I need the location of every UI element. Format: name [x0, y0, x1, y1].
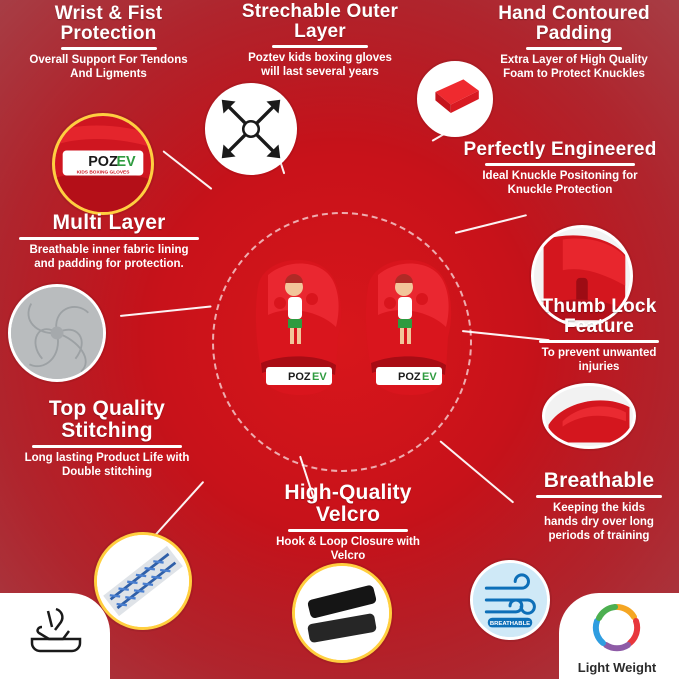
- svg-text:POZ: POZ: [288, 371, 311, 383]
- feature-title: Strechable Outer Layer: [216, 2, 424, 42]
- product-feature-poster: Wrist & Fist Protection Overall Support …: [0, 0, 679, 679]
- feature-multi-layer: Multi Layer Breathable inner fabric lini…: [4, 212, 214, 272]
- title-underline: [32, 445, 182, 448]
- colored-swirl-icon: [590, 603, 644, 653]
- feature-hand-contoured-padding: Hand Contoured Padding Extra Layer of Hi…: [470, 4, 678, 81]
- feature-title: Wrist & Fist Protection: [6, 4, 211, 44]
- feature-desc: Poztev kids boxing gloves will last seve…: [216, 52, 424, 80]
- svg-text:KIDS BOXING GLOVES: KIDS BOXING GLOVES: [384, 384, 434, 389]
- connector-line-1: [162, 150, 212, 190]
- title-underline: [539, 340, 659, 343]
- feature-title: High-Quality Velcro: [245, 482, 451, 526]
- double-stitching-closeup-icon: [97, 535, 189, 627]
- icon-red-foam-pad: [417, 61, 493, 137]
- corner-label: Hand Washable: [4, 660, 108, 675]
- icon-breathable-badge: BREATHABLE: [470, 560, 550, 640]
- icon-stretch-arrows: [205, 83, 297, 175]
- stretch-arrows-icon: [208, 86, 294, 172]
- title-underline: [485, 163, 635, 166]
- svg-text:KIDS BOXING GLOVES: KIDS BOXING GLOVES: [274, 384, 324, 389]
- feature-desc: Ideal Knuckle Positoning for Knuckle Pro…: [440, 170, 679, 198]
- pair-of-red-boxing-gloves: POZ EV KIDS BOXING GLOVES: [228, 245, 452, 425]
- connector-line-5: [120, 305, 212, 317]
- feature-title: Multi Layer: [4, 212, 214, 234]
- feature-title: Perfectly Engineered: [440, 140, 679, 160]
- corner-label: Light Weight: [559, 660, 675, 675]
- feature-title: Hand Contoured Padding: [470, 4, 678, 44]
- black-velcro-strips-icon: [295, 566, 389, 660]
- icon-glove-thumb-closeup: [542, 383, 636, 449]
- title-underline: [526, 47, 622, 50]
- feature-desc: Hook & Loop Closure with Velcro: [245, 536, 451, 564]
- corner-hand-washable: Hand Washable: [4, 605, 108, 675]
- red-glove-wrist-cuff-icon: POZ EV KIDS BOXING GLOVES: [55, 116, 151, 212]
- glove-thumb-closeup-icon: [545, 386, 633, 446]
- feature-breathable: Breathable Keeping the kids hands dry ov…: [520, 470, 678, 543]
- icon-black-velcro: [292, 563, 392, 663]
- feature-desc: To prevent unwanted injuries: [520, 347, 678, 375]
- feature-title: Thumb Lock Feature: [520, 297, 678, 337]
- feature-title: Breathable: [520, 470, 678, 492]
- feature-desc: Extra Layer of High Quality Foam to Prot…: [470, 54, 678, 82]
- feature-top-quality-stitching: Top Quality Stitching Long lasting Produ…: [2, 398, 212, 480]
- title-underline: [19, 237, 199, 240]
- feature-desc: Breathable inner fabric lining and paddi…: [4, 244, 214, 272]
- feature-desc: Overall Support For Tendons And Ligments: [6, 54, 211, 82]
- connector-line-4: [455, 214, 527, 234]
- center-product-image: POZ EV KIDS BOXING GLOVES: [228, 245, 452, 425]
- feature-strechable-outer-layer: Strechable Outer Layer Poztev kids boxin…: [216, 2, 424, 79]
- feature-desc: Long lasting Product Life with Double st…: [2, 452, 212, 480]
- svg-text:POZ: POZ: [398, 371, 421, 383]
- feature-title: Top Quality Stitching: [2, 398, 212, 442]
- feature-high-quality-velcro: High-Quality Velcro Hook & Loop Closure …: [245, 482, 451, 564]
- connector-line-7: [149, 481, 204, 542]
- feature-desc: Keeping the kids hands dry over long per…: [520, 502, 678, 543]
- grey-fabric-swatch-icon: [11, 287, 103, 379]
- corner-light-weight: Light Weight: [559, 603, 675, 675]
- feature-thumb-lock: Thumb Lock Feature To prevent unwanted i…: [520, 297, 678, 374]
- title-underline: [288, 529, 408, 532]
- svg-text:EV: EV: [116, 154, 136, 170]
- feature-perfectly-engineered: Perfectly Engineered Ideal Knuckle Posit…: [440, 140, 679, 198]
- svg-text:EV: EV: [422, 371, 437, 383]
- svg-text:EV: EV: [312, 371, 327, 383]
- title-underline: [61, 47, 157, 50]
- title-underline: [536, 495, 662, 498]
- breathable-badge-icon: BREATHABLE: [473, 563, 547, 637]
- feature-wrist-fist-protection: Wrist & Fist Protection Overall Support …: [6, 4, 211, 81]
- title-underline: [272, 45, 368, 48]
- svg-text:KIDS BOXING GLOVES: KIDS BOXING GLOVES: [77, 170, 130, 176]
- hand-wash-icon: [26, 605, 86, 653]
- red-foam-pad-icon: [420, 64, 490, 134]
- icon-double-stitching: [94, 532, 192, 630]
- icon-grey-fabric-swatch: [8, 284, 106, 382]
- svg-text:BREATHABLE: BREATHABLE: [490, 621, 530, 627]
- icon-red-glove-wrist-cuff: POZ EV KIDS BOXING GLOVES: [52, 113, 154, 215]
- svg-text:POZ: POZ: [88, 154, 118, 170]
